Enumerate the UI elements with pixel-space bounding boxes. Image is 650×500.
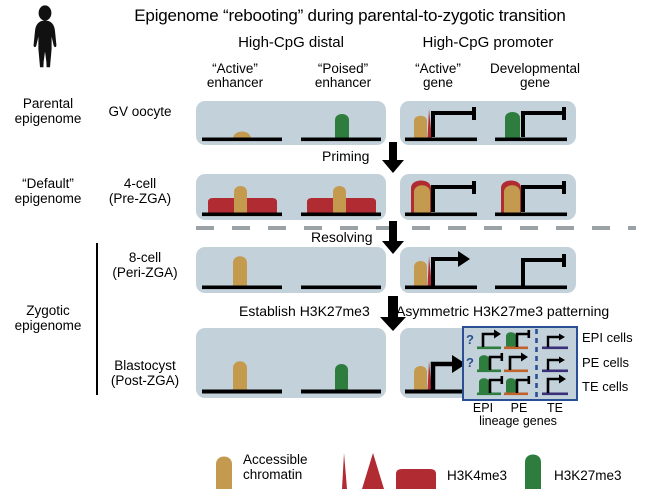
- inset-cell-r2c3: [542, 357, 568, 373]
- h3k4me3-spike-shape: [342, 453, 347, 489]
- accessible-chromatin-peak: [414, 185, 430, 214]
- inset-cell-r1c1: [477, 330, 501, 350]
- column-group-promoter: High-CpG promoter: [400, 34, 576, 51]
- h3k4me3-broad-shape: [396, 469, 436, 489]
- dna-line: [202, 390, 282, 394]
- question-mark-2: ?: [466, 355, 474, 370]
- repression-bar: [562, 107, 566, 120]
- dna-line: [405, 213, 477, 217]
- figure-title: Epigenome “rebooting” during parental-to…: [70, 6, 630, 26]
- panel-gv-oocyte-distal: [196, 101, 386, 145]
- h3k4me3-peak-shape: [362, 453, 384, 489]
- tss-repressed-elbow: [523, 187, 564, 212]
- inset-col-label-pe: PE: [503, 401, 535, 415]
- question-mark-1: ?: [466, 332, 474, 347]
- establish-arrow-icon: [379, 296, 407, 332]
- accessible-chromatin-peak: [414, 116, 427, 139]
- inset-cell-r3c1: [477, 376, 503, 395]
- stage-cell-blastocyst: Blastocyst (Post-ZGA): [100, 358, 190, 388]
- dna-line: [495, 213, 567, 217]
- tss-repressed-elbow: [433, 113, 474, 137]
- panel-4cell-promoter: [400, 174, 576, 220]
- legend-label-h3k27me3: H3K27me3: [554, 468, 622, 483]
- dna-line: [405, 286, 477, 290]
- legend-swatch-accessible-chromatin: [211, 452, 237, 490]
- lineage-inset-box: [462, 326, 578, 401]
- tss-repressed-elbow: [523, 113, 564, 137]
- stage-group-parental: Parental epigenome: [2, 96, 94, 126]
- accessible-chromatin-peak: [414, 366, 427, 391]
- legend-swatch-h3k4me3: [338, 450, 442, 490]
- inset-cell-r3c3: [542, 375, 568, 396]
- stage-group-default: “Default” epigenome: [2, 176, 94, 206]
- tss-active-arrow: [433, 259, 462, 286]
- dna-line: [301, 138, 381, 142]
- stage-cell-8-cell: 8-cell (Peri-ZGA): [100, 250, 190, 280]
- h3k27me3-peak: [505, 112, 520, 139]
- human-silhouette-icon: [22, 4, 68, 70]
- stage-cell-4-cell: 4-cell (Pre-ZGA): [92, 176, 188, 206]
- dna-line: [495, 286, 567, 290]
- inset-cell-r3c2: [504, 376, 530, 395]
- dna-line: [301, 286, 381, 290]
- inset-cell-r1c2: [504, 330, 530, 349]
- dna-line: [202, 286, 282, 290]
- inset-col-label-te: TE: [538, 401, 572, 415]
- repression-bar: [472, 181, 476, 194]
- transition-label-resolving: Resolving: [311, 229, 372, 245]
- accessible-chromatin-peak: [233, 256, 247, 287]
- column-group-distal: High-CpG distal: [196, 34, 386, 51]
- transition-label-establish: Establish H3K27me3: [239, 303, 370, 319]
- stage-cell-gv-oocyte: GV oocyte: [92, 104, 188, 119]
- panel-4cell-distal: [196, 174, 386, 220]
- accessible-chromatin-peak: [414, 261, 427, 287]
- inset-cell-r2c1: [477, 353, 503, 372]
- inset-caption: lineage genes: [462, 414, 574, 428]
- repression-bar: [562, 254, 566, 267]
- panel-gv-oocyte-promoter: [400, 101, 576, 145]
- tss-repressed-elbow: [523, 260, 564, 286]
- priming-arrow-icon: [381, 142, 405, 174]
- h3k27me3-peak: [335, 364, 348, 391]
- accessible-chromatin-peak: [234, 186, 247, 214]
- repression-bar: [562, 181, 566, 194]
- arrowhead-icon: [458, 251, 470, 267]
- column-header-active-gene: “Active” gene: [390, 62, 486, 90]
- transition-label-asymmetric: Asymmetric H3K27me3 patterning: [396, 303, 609, 319]
- dna-line: [495, 138, 567, 142]
- transition-label-priming: Priming: [322, 148, 369, 164]
- inset-row-label-epi: EPI cells: [582, 330, 633, 345]
- h3k27me3-peak: [335, 114, 349, 139]
- inset-row-label-pe: PE cells: [582, 355, 629, 370]
- inset-cell-r1c3: [542, 334, 568, 350]
- legend-swatch-h3k27me3: [520, 450, 546, 490]
- dna-line: [202, 213, 282, 217]
- dna-line: [405, 138, 477, 142]
- legend-label-accessible-chromatin: Accessible chromatin: [243, 452, 353, 482]
- dna-line: [301, 213, 381, 217]
- column-header-developmental-gene: Developmental gene: [480, 62, 590, 90]
- panel-8cell-promoter: [400, 247, 576, 293]
- dashed-separator: [196, 226, 636, 230]
- column-header-poised-enhancer: “Poised” enhancer: [293, 62, 393, 90]
- accessible-chromatin-peak: [333, 186, 346, 214]
- zygotic-bracket: [96, 243, 98, 395]
- repression-bar: [472, 107, 476, 120]
- inset-col-label-epi: EPI: [465, 401, 501, 415]
- inset-cell-r2c2: [504, 353, 528, 373]
- legend-label-h3k4me3: H3K4me3: [447, 468, 507, 483]
- dna-line: [405, 390, 467, 394]
- column-header-active-enhancer: “Active” enhancer: [185, 62, 285, 90]
- dna-line: [202, 138, 282, 142]
- accessible-chromatin-peak: [504, 185, 520, 214]
- tss-repressed-elbow: [433, 187, 474, 212]
- accessible-chromatin-peak: [233, 361, 247, 391]
- panel-8cell-distal: [196, 247, 386, 293]
- stage-group-zygotic: Zygotic epigenome: [2, 303, 94, 333]
- dna-line: [301, 390, 381, 394]
- inset-row-label-te: TE cells: [582, 379, 628, 394]
- panel-blastocyst-distal: [196, 328, 386, 398]
